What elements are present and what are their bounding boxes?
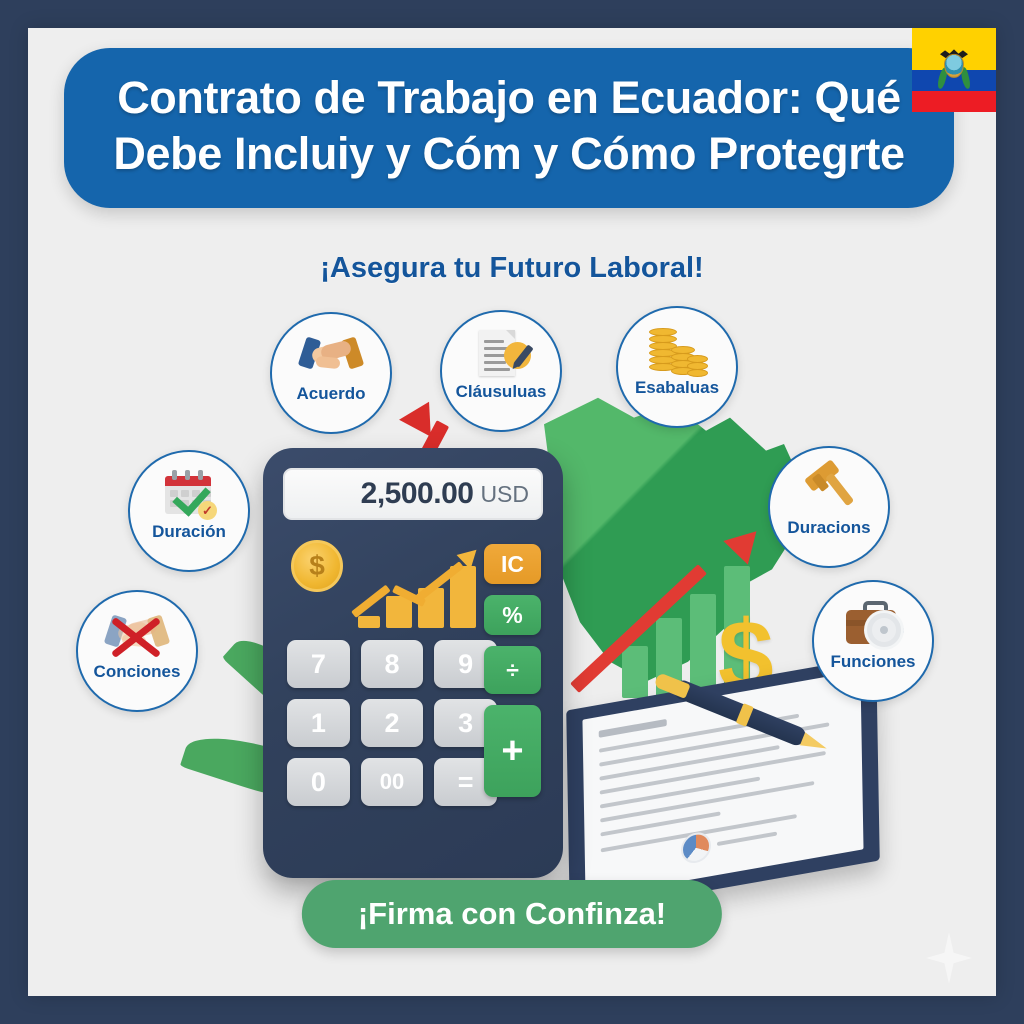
badge-clausulas[interactable]: Cláusuluas xyxy=(440,310,562,432)
pen-tip xyxy=(800,732,829,755)
badge-duracions[interactable]: Duracions xyxy=(768,446,890,568)
coat-of-arms-icon xyxy=(939,47,969,89)
fingers xyxy=(315,356,340,369)
poster-root: Contrato de Trabajo en Ecuador: Qué Debe… xyxy=(0,0,1024,1024)
badge-conciones[interactable]: Conciones xyxy=(76,590,198,712)
briefcase-glyph xyxy=(843,598,903,650)
text-line xyxy=(484,340,504,343)
badge-label: Esabaluas xyxy=(613,378,741,398)
gear-icon xyxy=(867,613,901,647)
coins-icon xyxy=(647,324,707,376)
calendar-check-icon: ✓ xyxy=(159,468,219,520)
check-badge-icon: ✓ xyxy=(198,501,217,520)
signature-line xyxy=(717,832,777,847)
badge-duracion[interactable]: ✓ Duración xyxy=(128,450,250,572)
dollar-coin-icon: $ xyxy=(291,540,343,592)
arrow-shaft xyxy=(570,564,707,693)
subtitle: ¡Asegura tu Futuro Laboral! xyxy=(28,252,996,285)
gavel-icon xyxy=(799,464,859,516)
key-ic[interactable]: IC xyxy=(484,544,541,584)
badge-label: Cláusuluas xyxy=(437,382,565,402)
badge-label: Duracions xyxy=(765,518,893,538)
title-banner: Contrato de Trabajo en Ecuador: Qué Debe… xyxy=(64,48,954,208)
cta-button[interactable]: ¡Firma con Confinza! xyxy=(302,880,722,948)
keypad-row: 1 2 3 xyxy=(287,699,497,747)
document-glyph xyxy=(471,328,531,380)
coins-glyph xyxy=(647,324,707,376)
growth-chart-icon xyxy=(348,553,478,628)
display-amount: 2,500.00 xyxy=(361,477,474,511)
poster-canvas: Contrato de Trabajo en Ecuador: Qué Debe… xyxy=(28,28,996,996)
chart-bar xyxy=(386,596,412,628)
arrow-head xyxy=(723,519,768,564)
pen-cap xyxy=(653,672,690,699)
calendar-ring xyxy=(198,470,203,480)
keypad-row: 7 8 9 xyxy=(287,640,497,688)
key-double-zero[interactable]: 00 xyxy=(361,758,424,806)
key-divide[interactable]: ÷ xyxy=(484,646,541,694)
key-1[interactable]: 1 xyxy=(287,699,350,747)
gavel-glyph xyxy=(799,464,859,516)
trend-segment xyxy=(351,585,391,618)
chart-bar xyxy=(358,616,380,628)
key-2[interactable]: 2 xyxy=(361,699,424,747)
document-pencil-icon xyxy=(471,328,531,380)
handshake-icon xyxy=(301,330,361,382)
calculator-keypad[interactable]: 7 8 9 1 2 3 0 00 = xyxy=(287,640,497,817)
keypad-row: 0 00 = xyxy=(287,758,497,806)
coin xyxy=(687,369,708,377)
badge-acuerdo[interactable]: Acuerdo xyxy=(270,312,392,434)
calculator-function-keys[interactable]: IC % ÷ + xyxy=(484,544,541,808)
ecuador-flag xyxy=(912,28,996,112)
calendar-ring xyxy=(172,470,177,480)
calculator-display: 2,500.00 USD xyxy=(283,468,543,520)
display-currency: USD xyxy=(480,481,529,508)
key-7[interactable]: 7 xyxy=(287,640,350,688)
text-line xyxy=(484,368,510,371)
badge-label: Duración xyxy=(125,522,253,542)
briefcase-gear-icon xyxy=(843,598,903,650)
cross-out-icon xyxy=(104,605,170,663)
badge-label: Funciones xyxy=(809,652,937,672)
page-title: Contrato de Trabajo en Ecuador: Qué Debe… xyxy=(104,70,914,182)
handshake-glyph xyxy=(301,330,361,382)
calendar-glyph: ✓ xyxy=(159,468,219,520)
handshake-glyph xyxy=(107,608,167,660)
key-0[interactable]: 0 xyxy=(287,758,350,806)
sparkle-icon xyxy=(926,932,972,984)
gavel-handle xyxy=(825,472,854,506)
flag-band-red xyxy=(912,91,996,112)
key-plus[interactable]: + xyxy=(484,705,541,797)
badge-label: Conciones xyxy=(73,662,201,682)
text-line xyxy=(599,719,667,738)
badge-escalas[interactable]: Esabaluas xyxy=(616,306,738,428)
key-8[interactable]: 8 xyxy=(361,640,424,688)
text-line xyxy=(484,361,506,364)
calendar-ring xyxy=(185,470,190,480)
badge-funciones[interactable]: Funciones xyxy=(812,580,934,702)
calculator[interactable]: 2,500.00 USD $ 7 8 9 xyxy=(263,448,563,878)
badge-label: Acuerdo xyxy=(267,384,395,404)
key-percent[interactable]: % xyxy=(484,595,541,635)
handshake-crossed-icon xyxy=(107,608,167,660)
